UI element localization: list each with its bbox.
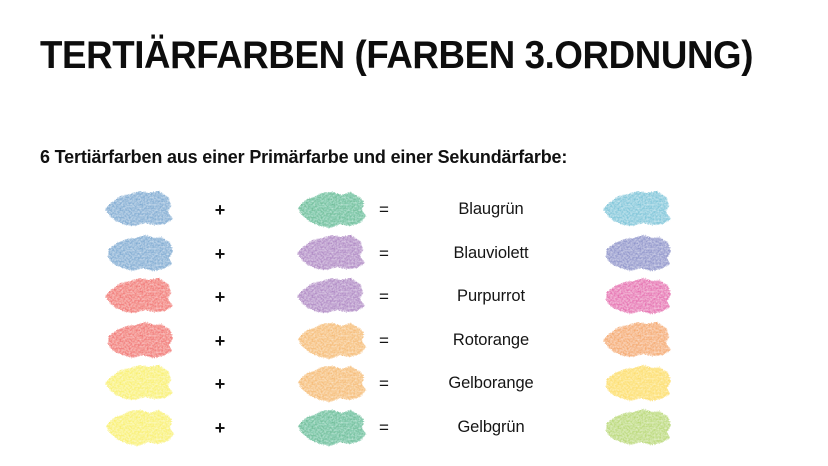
tertiary-color-label: Purpurrot — [406, 284, 576, 308]
plus-operator: + — [208, 242, 232, 266]
equals-operator: = — [372, 242, 396, 266]
tertiary-color-swatch — [598, 319, 676, 363]
color-mix-row: +=Blaugrün — [0, 190, 828, 234]
tertiary-color-label: Rotorange — [406, 328, 576, 352]
equals-operator: = — [372, 372, 396, 396]
primary-color-swatch — [100, 406, 178, 450]
secondary-color-swatch — [292, 319, 370, 363]
color-mix-row: +=Rotorange — [0, 321, 828, 365]
primary-color-swatch — [100, 232, 178, 276]
secondary-color-swatch — [292, 275, 370, 319]
tertiary-color-label: Gelbgrün — [406, 415, 576, 439]
color-mix-row: +=Gelborange — [0, 364, 828, 408]
tertiary-color-swatch — [598, 188, 676, 232]
primary-color-swatch — [100, 188, 178, 232]
slide-canvas: TERTIÄRFARBEN (FARBEN 3.ORDNUNG) 6 Terti… — [0, 0, 828, 466]
color-mix-row: +=Blauviolett — [0, 234, 828, 278]
color-mix-table: +=Blaugrün+=Blauviolett+=Purpurrot+=Roto… — [0, 190, 828, 451]
tertiary-color-swatch — [598, 362, 676, 406]
tertiary-color-swatch — [598, 275, 676, 319]
tertiary-color-label: Blauviolett — [406, 241, 576, 265]
color-mix-row: +=Purpurrot — [0, 277, 828, 321]
secondary-color-swatch — [292, 188, 370, 232]
plus-operator: + — [208, 198, 232, 222]
secondary-color-swatch — [292, 362, 370, 406]
color-mix-row: +=Gelbgrün — [0, 408, 828, 452]
primary-color-swatch — [100, 362, 178, 406]
secondary-color-swatch — [292, 232, 370, 276]
page-title: TERTIÄRFARBEN (FARBEN 3.ORDNUNG) — [40, 33, 753, 79]
plus-operator: + — [208, 329, 232, 353]
primary-color-swatch — [100, 319, 178, 363]
tertiary-color-swatch — [598, 232, 676, 276]
tertiary-color-label: Gelborange — [406, 371, 576, 395]
plus-operator: + — [208, 416, 232, 440]
equals-operator: = — [372, 416, 396, 440]
plus-operator: + — [208, 372, 232, 396]
equals-operator: = — [372, 198, 396, 222]
tertiary-color-swatch — [598, 406, 676, 450]
equals-operator: = — [372, 285, 396, 309]
secondary-color-swatch — [292, 406, 370, 450]
equals-operator: = — [372, 329, 396, 353]
subtitle-text: 6 Tertiärfarben aus einer Primärfarbe un… — [40, 145, 567, 169]
primary-color-swatch — [100, 275, 178, 319]
plus-operator: + — [208, 285, 232, 309]
tertiary-color-label: Blaugrün — [406, 197, 576, 221]
